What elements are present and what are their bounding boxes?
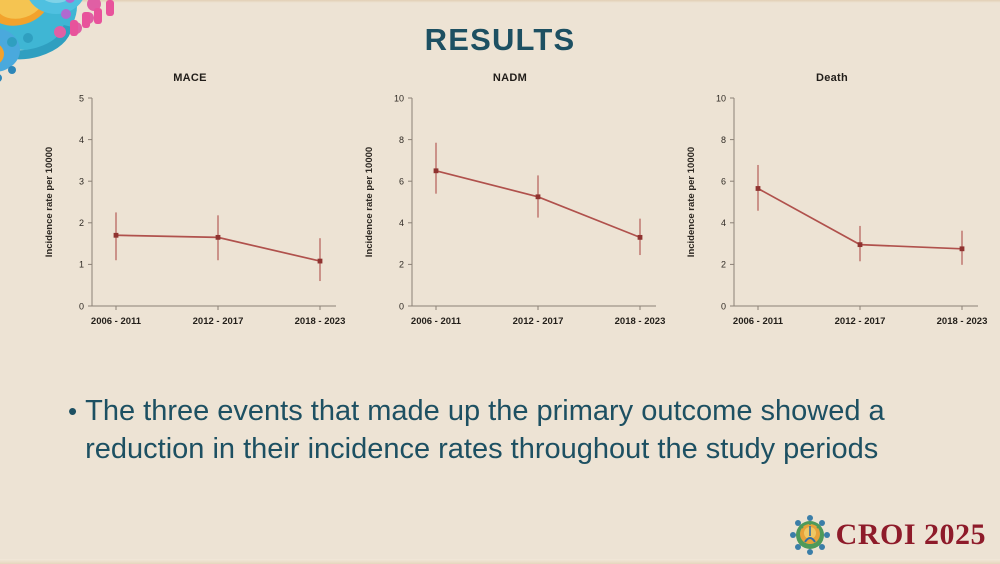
croi-logo-text: CROI 2025 — [836, 518, 986, 552]
svg-text:2: 2 — [721, 260, 726, 270]
svg-text:2006 - 2011: 2006 - 2011 — [91, 316, 142, 327]
svg-text:2012 - 2017: 2012 - 2017 — [513, 316, 564, 327]
svg-text:0: 0 — [79, 301, 84, 311]
svg-text:8: 8 — [721, 135, 726, 145]
bullet-text: The three events that made up the primar… — [85, 392, 928, 468]
bullet-marker: • — [68, 392, 77, 430]
bullet-list: • The three events that made up the prim… — [68, 392, 928, 468]
slide-title: RESULTS — [0, 22, 1000, 58]
svg-text:6: 6 — [399, 177, 404, 187]
croi-logo: CROI 2025 — [789, 514, 986, 556]
svg-text:0: 0 — [721, 301, 726, 311]
svg-text:Incidence rate per 10000: Incidence rate per 10000 — [686, 147, 697, 257]
slide-bottom-band — [0, 559, 1000, 564]
svg-text:2012 - 2017: 2012 - 2017 — [835, 316, 886, 327]
svg-text:1: 1 — [79, 260, 84, 270]
chart-nadm-plot: 0246810Incidence rate per 100002006 - 20… — [350, 84, 670, 354]
virus-icon — [789, 514, 831, 556]
chart-mace: MACE 012345Incidence rate per 100002006 … — [30, 70, 350, 355]
svg-text:2012 - 2017: 2012 - 2017 — [193, 316, 244, 327]
chart-nadm: NADM 0246810Incidence rate per 100002006… — [350, 70, 670, 355]
slide-top-band — [0, 0, 1000, 3]
svg-text:10: 10 — [394, 93, 404, 103]
chart-mace-title: MACE — [30, 72, 350, 84]
svg-text:3: 3 — [79, 177, 84, 187]
svg-text:2018 - 2023: 2018 - 2023 — [937, 316, 988, 327]
svg-text:Incidence rate per 10000: Incidence rate per 10000 — [44, 147, 55, 257]
svg-text:4: 4 — [79, 135, 84, 145]
svg-text:2018 - 2023: 2018 - 2023 — [615, 316, 666, 327]
svg-text:2018 - 2023: 2018 - 2023 — [295, 316, 346, 327]
chart-death-title: Death — [672, 72, 992, 84]
svg-text:0: 0 — [399, 301, 404, 311]
svg-text:8: 8 — [399, 135, 404, 145]
svg-text:2006 - 2011: 2006 - 2011 — [411, 316, 462, 327]
chart-death: Death 0246810Incidence rate per 10000200… — [672, 70, 992, 355]
svg-text:6: 6 — [721, 177, 726, 187]
charts-row: MACE 012345Incidence rate per 100002006 … — [0, 70, 1000, 355]
svg-text:2: 2 — [79, 218, 84, 228]
chart-nadm-title: NADM — [350, 72, 670, 84]
svg-text:4: 4 — [399, 218, 404, 228]
chart-death-plot: 0246810Incidence rate per 100002006 - 20… — [672, 84, 992, 354]
svg-text:10: 10 — [716, 93, 726, 103]
svg-text:4: 4 — [721, 218, 726, 228]
svg-text:2006 - 2011: 2006 - 2011 — [733, 316, 784, 327]
svg-text:2: 2 — [399, 260, 404, 270]
svg-text:Incidence rate per 10000: Incidence rate per 10000 — [364, 147, 375, 257]
svg-text:5: 5 — [79, 93, 84, 103]
chart-mace-plot: 012345Incidence rate per 100002006 - 201… — [30, 84, 350, 354]
list-item: • The three events that made up the prim… — [68, 392, 928, 468]
slide-canvas: RESULTS MACE 012345Incidence rate per 10… — [0, 0, 1000, 564]
